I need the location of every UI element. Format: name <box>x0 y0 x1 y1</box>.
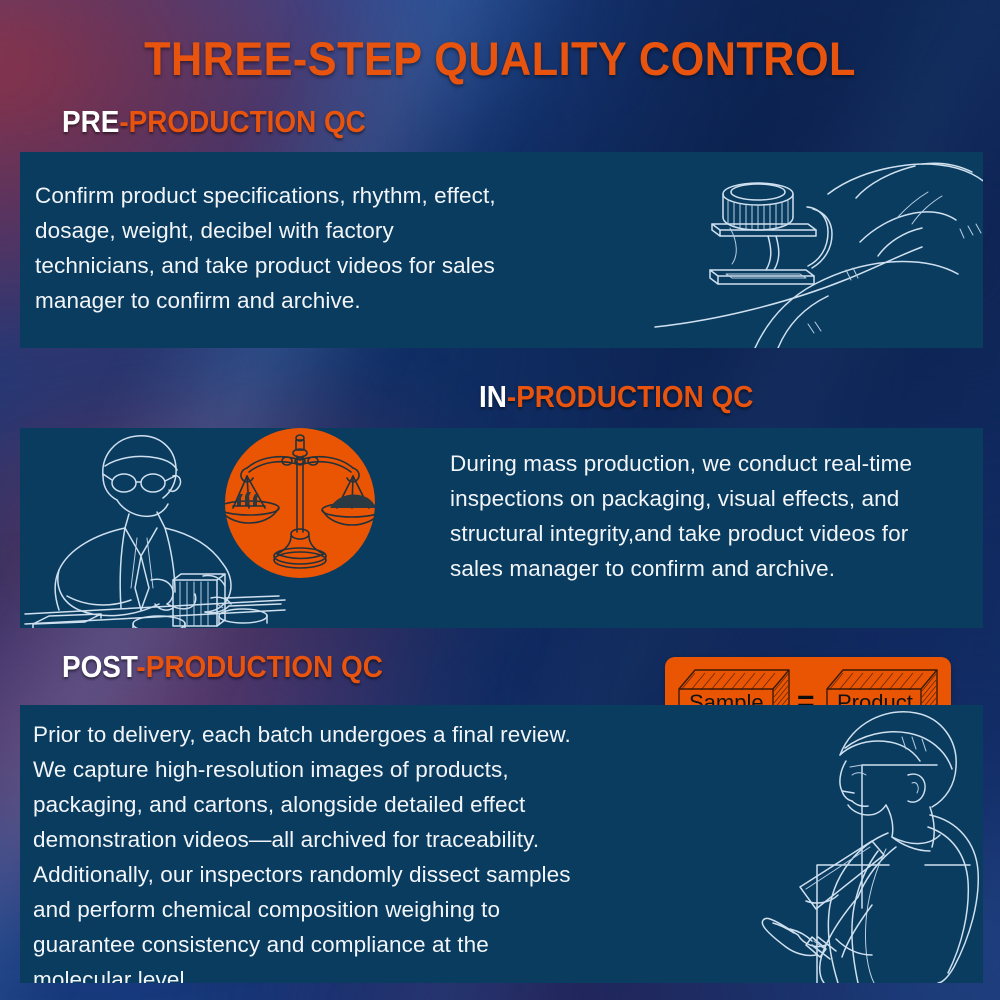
step-3-body-text: Prior to delivery, each batch undergoes … <box>33 717 673 983</box>
step-1-heading-white: PRE <box>62 104 119 139</box>
step-3-heading: POST-PRODUCTION QC <box>62 649 383 685</box>
step-1-heading-orange: -PRODUCTION QC <box>119 104 365 139</box>
step-1-body-text: Confirm product specifications, rhythm, … <box>35 178 635 318</box>
step-3-heading-white: POST <box>62 649 136 684</box>
page-title: THREE-STEP QUALITY CONTROL <box>40 31 960 86</box>
balance-scale-badge <box>225 428 375 578</box>
step-3-heading-orange: -PRODUCTION QC <box>136 649 382 684</box>
hand-holding-measuring-device-icon <box>660 152 983 348</box>
step-2-heading-orange: -PRODUCTION QC <box>507 379 753 414</box>
step-1-panel: Confirm product specifications, rhythm, … <box>20 152 983 348</box>
step-2-heading-white: IN <box>479 379 507 414</box>
step-3-panel: Prior to delivery, each batch undergoes … <box>20 705 983 983</box>
step-2-panel: During mass production, we conduct real-… <box>20 428 983 628</box>
step-2-heading: IN-PRODUCTION QC <box>479 379 753 415</box>
step-2-body-text: During mass production, we conduct real-… <box>450 446 983 586</box>
inspector-with-tablet-icon <box>640 705 983 983</box>
step-1-heading: PRE-PRODUCTION QC <box>62 104 366 140</box>
